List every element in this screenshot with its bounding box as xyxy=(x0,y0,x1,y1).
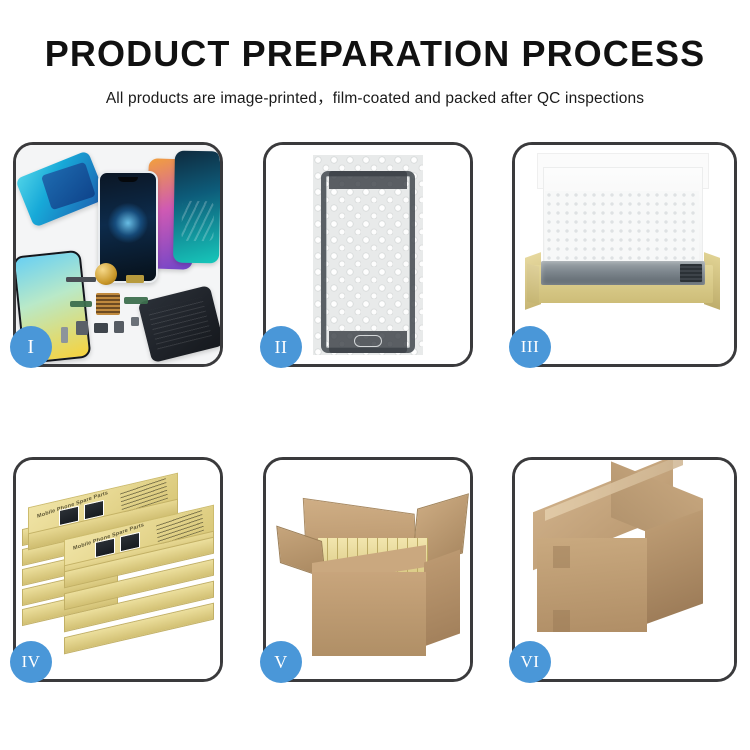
screen-glass xyxy=(321,171,415,353)
infographic-page: PRODUCT PREPARATION PROCESS All products… xyxy=(0,0,750,750)
process-steps-grid: I II xyxy=(0,142,750,682)
step-image-6 xyxy=(515,460,734,679)
speaker-part xyxy=(95,263,117,285)
small-part xyxy=(61,327,68,343)
sealed-carton-scene xyxy=(515,460,734,679)
carton-filling-scene xyxy=(266,460,470,679)
step-image-3 xyxy=(515,145,734,364)
carton-front-face xyxy=(312,572,426,656)
small-part xyxy=(76,321,88,335)
step-panel-1: I xyxy=(13,142,223,367)
blue-adhesive-frame xyxy=(16,150,107,227)
small-part xyxy=(66,277,96,282)
step-badge-1: I xyxy=(10,326,52,368)
lower-box-stack-right xyxy=(64,554,214,679)
chip-part xyxy=(96,293,120,315)
carton-side-face xyxy=(424,549,460,646)
home-button xyxy=(354,335,382,347)
step-image-2 xyxy=(266,145,470,364)
step-panel-4: Mobile Phone Spare Parts Mobile Phone Sp… xyxy=(13,457,223,682)
flex-cable-part xyxy=(124,297,148,304)
foam-padding xyxy=(545,191,699,269)
phone-back-housing xyxy=(138,285,220,363)
teal-gradient-phone xyxy=(173,151,220,264)
bubble-wrap-scene xyxy=(266,145,470,364)
step-panel-3: III xyxy=(512,142,737,367)
step-badge-6: VI xyxy=(509,641,551,683)
page-subtitle: All products are image-printed，film-coat… xyxy=(0,86,750,108)
packed-screen xyxy=(541,261,705,285)
inner-box-scene xyxy=(515,145,734,364)
carton-flap-tab xyxy=(553,610,570,632)
step-image-5 xyxy=(266,460,470,679)
step-image-1 xyxy=(16,145,220,364)
small-part xyxy=(114,321,124,333)
carton-side-face xyxy=(645,509,703,624)
carton-flap-tab xyxy=(553,546,570,568)
step-badge-2: II xyxy=(260,326,302,368)
step-badge-5: V xyxy=(260,641,302,683)
small-part xyxy=(126,275,144,283)
step-panel-2: II xyxy=(263,142,473,367)
step-badge-4: IV xyxy=(10,641,52,683)
phones-and-parts-scene xyxy=(16,145,220,364)
step-panel-6: VI xyxy=(512,457,737,682)
small-part xyxy=(131,317,139,326)
page-title: PRODUCT PREPARATION PROCESS xyxy=(0,36,750,72)
step-panel-5: V xyxy=(263,457,473,682)
flex-cable-part xyxy=(70,301,92,307)
box-stack-scene: Mobile Phone Spare Parts Mobile Phone Sp… xyxy=(16,460,220,679)
step-badge-3: III xyxy=(509,326,551,368)
step-image-4: Mobile Phone Spare Parts Mobile Phone Sp… xyxy=(16,460,220,679)
small-part xyxy=(94,323,108,333)
header: PRODUCT PREPARATION PROCESS All products… xyxy=(0,0,750,108)
